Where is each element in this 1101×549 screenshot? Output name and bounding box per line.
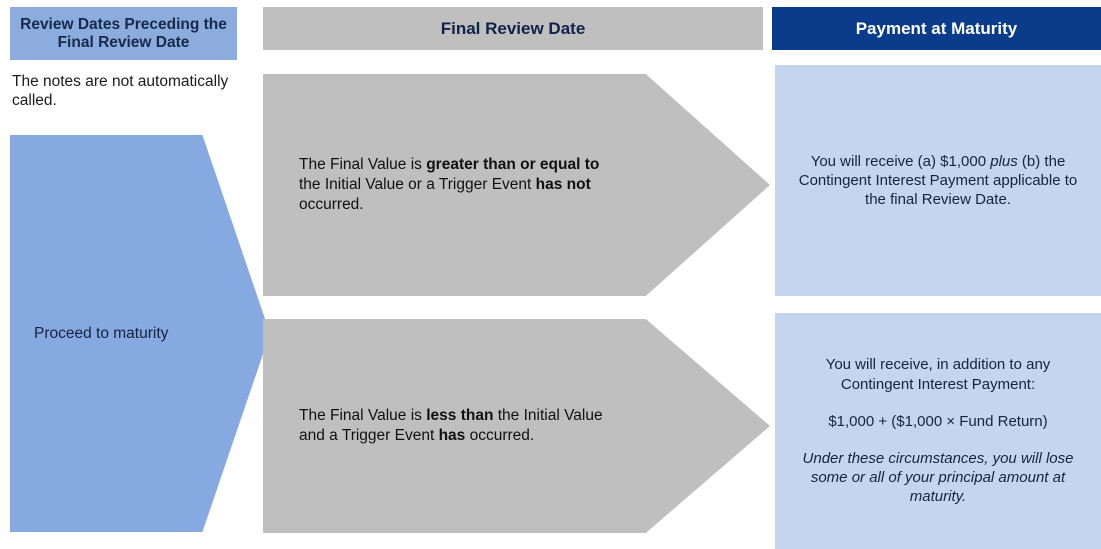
final-review-condition-text-2: The Final Value is less than the Initial…: [263, 406, 770, 446]
payoff-diagram: Review Dates Preceding the Final Review …: [0, 0, 1101, 549]
condition-1-emphasis-1: greater than or equal to: [426, 156, 599, 173]
proceed-to-maturity-label: Proceed to maturity: [10, 324, 168, 343]
condition-1-part-1: The Final Value is: [299, 156, 426, 173]
condition-2-emphasis-2: has: [439, 427, 466, 444]
column-header-final-review-date-label: Final Review Date: [441, 19, 586, 39]
column-header-review-dates: Review Dates Preceding the Final Review …: [10, 7, 237, 60]
final-review-condition-text-1: The Final Value is greater than or equal…: [263, 155, 770, 215]
column-header-payment-at-maturity-label: Payment at Maturity: [856, 19, 1018, 39]
condition-2-emphasis-1: less than: [426, 407, 493, 424]
payout-2-principal-warning: Under these circumstances, you will lose…: [789, 449, 1087, 507]
column-header-payment-at-maturity: Payment at Maturity: [772, 7, 1101, 50]
payout-2-line-1: You will receive, in addition to any Con…: [789, 355, 1087, 393]
payout-1-emphasis: plus: [990, 153, 1018, 170]
condition-1-part-2: the Initial Value or a Trigger Event: [299, 176, 536, 193]
condition-2-part-1: The Final Value is: [299, 407, 426, 424]
payment-at-maturity-panel-1: You will receive (a) $1,000 plus (b) the…: [775, 65, 1101, 296]
column-header-final-review-date: Final Review Date: [263, 7, 763, 50]
condition-2-part-3: occurred.: [465, 427, 534, 444]
payment-at-maturity-panel-2: You will receive, in addition to any Con…: [775, 313, 1101, 549]
column-header-review-dates-label: Review Dates Preceding the Final Review …: [16, 16, 231, 52]
final-review-condition-arrow-1: The Final Value is greater than or equal…: [263, 74, 770, 296]
payout-1-part-1: You will receive (a) $1,000: [811, 153, 991, 170]
proceed-to-maturity-arrow: Proceed to maturity: [10, 135, 270, 532]
condition-1-emphasis-2: has not: [536, 176, 591, 193]
payout-2-formula: $1,000 + ($1,000 × Fund Return): [828, 412, 1047, 431]
payout-1-text: You will receive (a) $1,000 plus (b) the…: [789, 152, 1087, 210]
final-review-condition-arrow-2: The Final Value is less than the Initial…: [263, 319, 770, 533]
left-column-note: The notes are not automatically called.: [12, 72, 242, 111]
condition-1-part-3: occurred.: [299, 196, 364, 213]
